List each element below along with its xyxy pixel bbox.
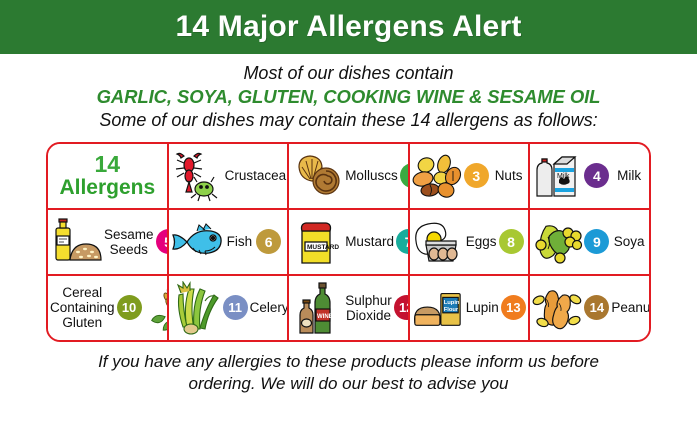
allergen-cell-peanuts[interactable]: Peanuts14 [530, 276, 649, 340]
milk-carton-icon: Milk [530, 148, 584, 204]
svg-text:Flour: Flour [444, 307, 459, 313]
allergen-label: Soya [609, 234, 649, 249]
allergen-cell-nuts[interactable]: Nuts3 [410, 144, 531, 208]
shell-snail-icon [289, 148, 343, 204]
allergen-number-badge: 3 [464, 163, 489, 188]
intro-line-3: Some of our dishes may contain these 14 … [10, 109, 687, 132]
sesame-oil-bun-icon [48, 214, 102, 270]
peanuts-icon [530, 280, 584, 336]
footer-block: If you have any allergies to these produ… [0, 351, 697, 395]
allergen-number-badge: 12 [394, 295, 410, 320]
allergen-label: Cereal Containing Gluten [48, 285, 117, 330]
allergen-number-badge: 6 [256, 229, 281, 254]
allergen-cell-mustard[interactable]: MUSTARD Mustard7 [289, 210, 410, 274]
allergen-label: Fish [223, 234, 257, 249]
allergen-label: Crustaceans [223, 168, 290, 183]
allergen-label: Sulphur Dioxide [343, 293, 394, 323]
page-title: 14 Major Allergens Alert [175, 10, 521, 44]
svg-text:WINE: WINE [317, 314, 333, 320]
allergen-number-badge: 13 [501, 295, 526, 320]
allergen-number-badge: 14 [584, 295, 609, 320]
allergen-count-word: Allergens [59, 177, 155, 198]
allergen-label: Eggs [464, 234, 499, 249]
allergen-number-badge: 5 [156, 229, 169, 254]
allergen-count-number: 14 [95, 153, 121, 176]
intro-line-1: Most of our dishes contain [10, 62, 687, 85]
allergen-cell-soya[interactable]: Soya9 [530, 210, 649, 274]
soya-beans-icon [530, 214, 584, 270]
allergen-label: Mustard [343, 234, 396, 249]
allergen-cell-fish[interactable]: Fish6 [169, 210, 290, 274]
allergen-number-badge: 7 [396, 229, 410, 254]
allergen-number-badge: 9 [584, 229, 609, 254]
allergen-number-badge: 4 [584, 163, 609, 188]
fish-icon [169, 214, 223, 270]
allergen-grid: 14Allergens Crustaceans1 Molluscs2 [46, 142, 651, 342]
allergen-cell-lupin[interactable]: Lupin Flour Lupin13 [410, 276, 531, 340]
footer-line-2: ordering. We will do our best to advise … [36, 373, 661, 395]
allergen-number-badge: 8 [499, 229, 524, 254]
allergen-cell-eggs[interactable]: Eggs8 [410, 210, 531, 274]
allergen-cell-celery[interactable]: Celery11 [169, 276, 290, 340]
allergen-label: Lupin [464, 300, 501, 315]
mustard-packet-icon: MUSTARD [289, 214, 343, 270]
allergen-number-badge: 11 [223, 295, 248, 320]
footer-line-1: If you have any allergies to these produ… [36, 351, 661, 373]
svg-text:MUSTARD: MUSTARD [307, 244, 339, 251]
allergen-grid-row: 14Allergens Crustaceans1 Molluscs2 [48, 144, 649, 210]
svg-text:Milk: Milk [557, 173, 570, 180]
celery-icon [169, 280, 223, 336]
allergen-cell-sesame-seeds[interactable]: Sesame Seeds5 [48, 210, 169, 274]
allergen-label: Molluscs [343, 168, 400, 183]
intro-block: Most of our dishes contain GARLIC, SOYA,… [0, 54, 697, 136]
header-banner: 14 Major Allergens Alert [0, 0, 697, 54]
allergen-cell-cereal-containing-gluten[interactable]: Cereal Containing Gluten10 [48, 276, 169, 340]
mixed-nuts-icon [410, 148, 464, 204]
allergen-number-badge: 2 [400, 163, 410, 188]
allergen-cell-milk[interactable]: Milk Milk4 [530, 144, 649, 208]
allergen-grid-row: Cereal Containing Gluten10 Celery11 WINE… [48, 276, 649, 340]
svg-text:Lupin: Lupin [444, 300, 460, 306]
wine-bottles-icon: WINE [289, 280, 343, 336]
allergen-cell-crustaceans[interactable]: Crustaceans1 [169, 144, 290, 208]
allergen-label: Celery [248, 300, 290, 315]
intro-line-2-highlight: GARLIC, SOYA, GLUTEN, COOKING WINE & SES… [10, 85, 687, 109]
eggs-carton-icon [410, 214, 464, 270]
allergen-cell-sulphur-dioxide[interactable]: WINE Sulphur Dioxide12 [289, 276, 410, 340]
allergen-number-badge: 10 [117, 295, 142, 320]
lupin-flour-icon: Lupin Flour [410, 280, 464, 336]
allergen-grid-row: Sesame Seeds5 Fish6 MUSTARD Mustard7 Egg… [48, 210, 649, 276]
allergen-label: Sesame Seeds [102, 227, 156, 257]
allergen-label: Milk [609, 168, 649, 183]
allergen-cell-molluscs[interactable]: Molluscs2 [289, 144, 410, 208]
wheat-sheaf-icon [142, 280, 169, 336]
allergen-label: Nuts [489, 168, 529, 183]
allergen-count-cell: 14Allergens [48, 144, 169, 208]
lobster-crab-icon [169, 148, 223, 204]
allergen-label: Peanuts [609, 300, 649, 315]
